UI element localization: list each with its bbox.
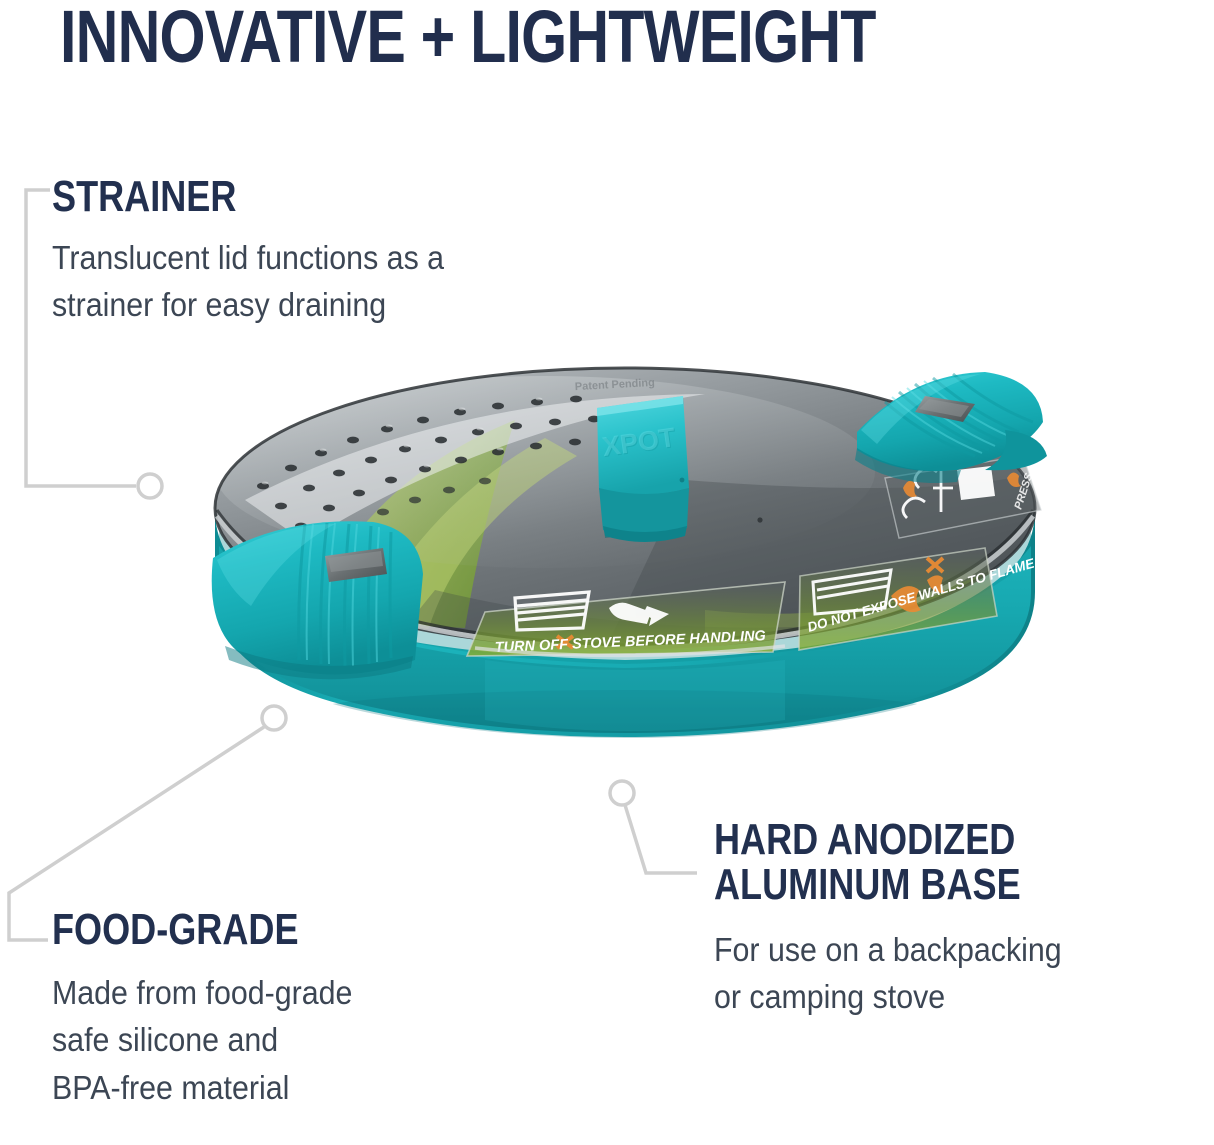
callout-food-grade-body: Made from food-grade safe silicone and B… bbox=[52, 969, 352, 1112]
leader-dot-aluminum-base bbox=[610, 781, 634, 805]
callout-food-grade-body-line3: BPA-free material bbox=[52, 1064, 352, 1112]
callout-aluminum-base: HARD ANODIZED ALUMINUM BASE For use on a… bbox=[714, 818, 1092, 1021]
callout-strainer-body-line1: Translucent lid functions as a bbox=[52, 234, 444, 282]
callout-strainer-title: STRAINER bbox=[52, 175, 401, 220]
callout-aluminum-base-title-line2: ALUMINUM BASE bbox=[714, 863, 1024, 908]
callout-strainer-body: Translucent lid functions as a strainer … bbox=[52, 234, 444, 329]
lid-knob: XPOT XPOT bbox=[597, 396, 689, 542]
callout-aluminum-base-title-line1: HARD ANODIZED bbox=[714, 815, 1015, 864]
callout-aluminum-base-body-line2: or camping stove bbox=[714, 973, 1062, 1021]
handle-left bbox=[212, 521, 423, 679]
infographic-canvas: INNOVATIVE + LIGHTWEIGHT bbox=[0, 0, 1214, 1145]
callout-food-grade: FOOD-GRADE Made from food-grade safe sil… bbox=[52, 908, 379, 1111]
callout-food-grade-title: FOOD-GRADE bbox=[52, 908, 320, 953]
callout-aluminum-base-body-line1: For use on a backpacking bbox=[714, 926, 1062, 974]
callout-strainer: STRAINER Translucent lid functions as a … bbox=[52, 175, 478, 329]
callout-aluminum-base-title: HARD ANODIZED ALUMINUM BASE bbox=[714, 818, 1024, 908]
callout-aluminum-base-body: For use on a backpacking or camping stov… bbox=[714, 926, 1062, 1021]
callout-food-grade-body-line2: safe silicone and bbox=[52, 1016, 352, 1064]
product-image: Patent Pending bbox=[185, 360, 1065, 760]
leader-dot-strainer bbox=[138, 474, 162, 498]
callout-strainer-body-line2: strainer for easy draining bbox=[52, 281, 444, 329]
knob-dot bbox=[680, 478, 685, 483]
vent-hole bbox=[757, 517, 762, 522]
handle-right bbox=[855, 372, 1047, 483]
leader-aluminum-base bbox=[625, 805, 697, 873]
callout-food-grade-body-line1: Made from food-grade bbox=[52, 969, 352, 1017]
